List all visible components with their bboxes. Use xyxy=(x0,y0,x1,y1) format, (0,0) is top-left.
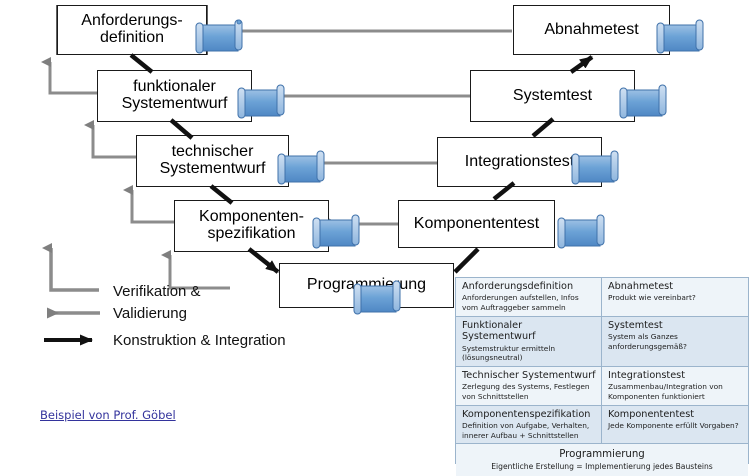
cell-title: Systemtest xyxy=(608,320,743,331)
cell-desc: Zerlegung des Systems, Festlegen von Sch… xyxy=(462,382,596,401)
table-row: Komponentenspezifikation Definition von … xyxy=(456,406,748,445)
cell-title: Abnahmetest xyxy=(608,281,743,292)
table-cell-funktionaler-systementwurf: Funktionaler Systementwurf Systemstruktu… xyxy=(456,317,602,367)
table-cell-komponententest: Komponententest Jede Komponente erfüllt … xyxy=(602,406,748,445)
table-cell-komponentenspezifikation: Komponentenspezifikation Definition von … xyxy=(456,406,602,445)
table-row: Funktionaler Systementwurf Systemstruktu… xyxy=(456,317,748,367)
cell-title: Komponententest xyxy=(608,409,743,420)
cell-desc: Eigentliche Erstellung = Implementierung… xyxy=(460,462,744,472)
cell-desc: Definition von Aufgabe, Verhalten, inner… xyxy=(462,421,596,440)
table-row: Technischer Systementwurf Zerlegung des … xyxy=(456,367,748,406)
table-cell-anforderungsdefinition: Anforderungsdefinition Anforderungen auf… xyxy=(456,278,602,317)
cell-title: Komponentenspezifikation xyxy=(462,409,596,420)
table-cell-integrationstest: Integrationstest Zusammenbau/Integration… xyxy=(602,367,748,406)
v-model-diagram: Anforderungs- definition funktionaler Sy… xyxy=(0,0,750,466)
cell-desc: Systemstruktur ermitteln (lösungsneutral… xyxy=(462,344,596,363)
table-row: Anforderungsdefinition Anforderungen auf… xyxy=(456,278,748,317)
cell-desc: Produkt wie vereinbart? xyxy=(608,293,743,303)
table-cell-systemtest: Systemtest System als Ganzes anforderung… xyxy=(602,317,748,367)
cell-desc: Zusammenbau/Integration von Komponenten … xyxy=(608,382,743,401)
table-cell-technischer-systementwurf: Technischer Systementwurf Zerlegung des … xyxy=(456,367,602,406)
cell-desc: Jede Komponente erfüllt Vorgaben? xyxy=(608,421,743,431)
credit-link[interactable]: Beispiel von Prof. Göbel xyxy=(40,408,176,422)
elbow-up-arrow-icon xyxy=(51,248,99,290)
cell-title: Integrationstest xyxy=(608,370,743,381)
cell-title: Anforderungsdefinition xyxy=(462,281,596,292)
legend-label-verifikation: Verifikation & xyxy=(113,283,201,300)
table-cell-abnahmetest: Abnahmetest Produkt wie vereinbart? xyxy=(602,278,748,317)
cell-title: Funktionaler Systementwurf xyxy=(462,320,596,343)
cell-desc: System als Ganzes anforderungsgemäß? xyxy=(608,332,743,351)
phase-description-table: Anforderungsdefinition Anforderungen auf… xyxy=(455,277,749,464)
cell-desc: Anforderungen aufstellen, Infos vom Auft… xyxy=(462,293,596,312)
table-row-footer: Programmierung Eigentliche Erstellung = … xyxy=(456,444,748,476)
legend-label-konstruktion: Konstruktion & Integration xyxy=(113,332,286,349)
table-cell-programmierung: Programmierung Eigentliche Erstellung = … xyxy=(456,444,748,476)
cell-title: Technischer Systementwurf xyxy=(462,370,596,381)
cell-title: Programmierung xyxy=(460,449,744,461)
legend-label-validierung: Validierung xyxy=(113,305,187,322)
